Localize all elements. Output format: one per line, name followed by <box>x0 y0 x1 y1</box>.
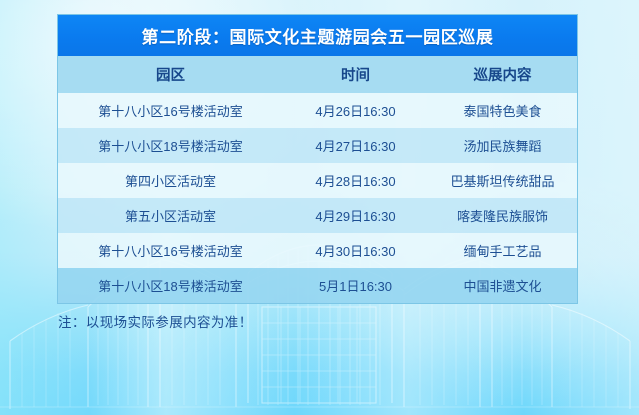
table-row: 第十八小区18号楼活动室 4月27日16:30 汤加民族舞蹈 <box>58 128 577 163</box>
schedule-card: 第二阶段：国际文化主题游园会五一园区巡展 园区 时间 巡展内容 第十八小区16号… <box>57 14 578 304</box>
cell-content: 汤加民族舞蹈 <box>428 128 577 163</box>
table-row: 第十八小区16号楼活动室 4月30日16:30 缅甸手工艺品 <box>58 233 577 268</box>
cell-time: 5月1日16:30 <box>283 268 428 303</box>
cell-venue: 第五小区活动室 <box>58 198 283 233</box>
cell-content: 缅甸手工艺品 <box>428 233 577 268</box>
table-header-row: 园区 时间 巡展内容 <box>58 56 577 93</box>
cell-venue: 第十八小区18号楼活动室 <box>58 128 283 163</box>
cell-time: 4月30日16:30 <box>283 233 428 268</box>
cell-venue: 第十八小区16号楼活动室 <box>58 93 283 128</box>
cell-content: 泰国特色美食 <box>428 93 577 128</box>
cell-venue: 第十八小区16号楼活动室 <box>58 233 283 268</box>
cell-time: 4月26日16:30 <box>283 93 428 128</box>
table-row: 第十八小区18号楼活动室 5月1日16:30 中国非遗文化 <box>58 268 577 303</box>
cell-time: 4月28日16:30 <box>283 163 428 198</box>
cell-venue: 第十八小区18号楼活动室 <box>58 268 283 303</box>
table-row: 第五小区活动室 4月29日16:30 喀麦隆民族服饰 <box>58 198 577 233</box>
table-row: 第四小区活动室 4月28日16:30 巴基斯坦传统甜品 <box>58 163 577 198</box>
column-header-time: 时间 <box>283 56 428 93</box>
poster-title: 第二阶段：国际文化主题游园会五一园区巡展 <box>58 15 577 56</box>
cell-time: 4月29日16:30 <box>283 198 428 233</box>
table-row: 第十八小区16号楼活动室 4月26日16:30 泰国特色美食 <box>58 93 577 128</box>
disclaimer-note: 注：以现场实际参展内容为准！ <box>58 311 253 331</box>
poster-canvas: 第二阶段：国际文化主题游园会五一园区巡展 园区 时间 巡展内容 第十八小区16号… <box>0 0 639 415</box>
column-header-venue: 园区 <box>58 56 283 93</box>
cell-content: 巴基斯坦传统甜品 <box>428 163 577 198</box>
cell-venue: 第四小区活动室 <box>58 163 283 198</box>
cell-content: 喀麦隆民族服饰 <box>428 198 577 233</box>
cell-time: 4月27日16:30 <box>283 128 428 163</box>
column-header-content: 巡展内容 <box>428 56 577 93</box>
schedule-table: 园区 时间 巡展内容 第十八小区16号楼活动室 4月26日16:30 泰国特色美… <box>58 56 577 303</box>
cell-content: 中国非遗文化 <box>428 268 577 303</box>
